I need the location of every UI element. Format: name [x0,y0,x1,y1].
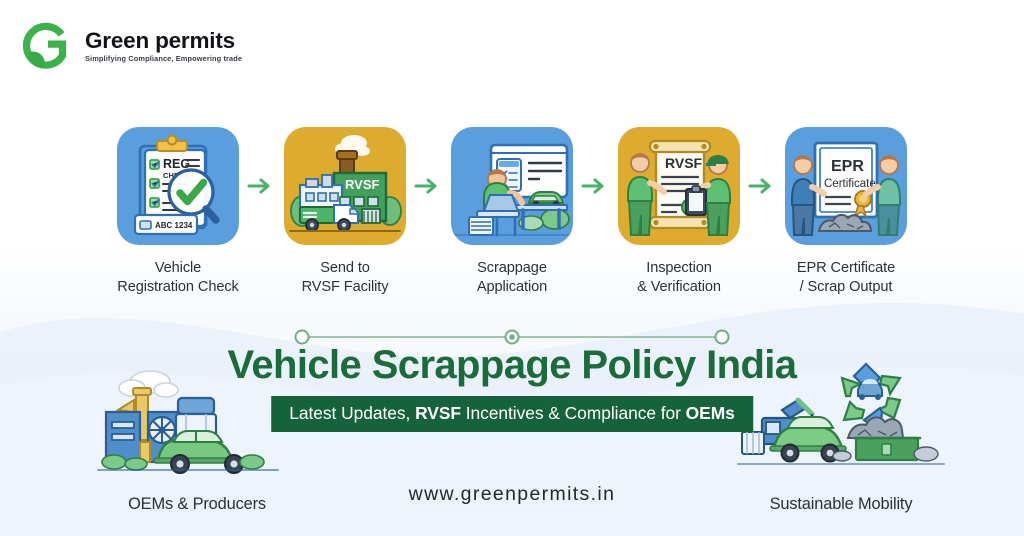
subtitle-part2: Incentives & Compliance for [461,403,686,423]
subtitle-bold-rvsf: RVSF [415,403,461,423]
arrow-right-icon-2 [406,127,451,245]
step-label-4-line1: Inspection [637,259,721,278]
svg-text:Certificate: Certificate [824,178,876,190]
step-label-3-line1: Scrappage [477,259,547,278]
step-label-4-line2: & Verification [637,278,721,297]
step-label-1-line2: Registration Check [117,278,239,297]
step-card-5: EPR Certificate [785,127,907,245]
step-label-3-line2: Application [477,278,547,297]
process-step-vehicle-registration-check[interactable]: REG CHECK ABC 1234 Vehicle [117,127,239,297]
brand-name: Green permits [85,30,242,53]
step-label-1: Vehicle Registration Check [117,259,239,297]
step-label-3: Scrappage Application [477,259,547,297]
page-title: Vehicle Scrappage Policy India [0,343,1024,388]
step-card-2: RVSF [284,127,406,245]
website-url[interactable]: www.greenpermits.in [0,483,1024,506]
step-card-3 [451,127,573,245]
step-label-5: EPR Certificate / Scrap Output [797,259,895,297]
rvsf-factory-truck-icon: RVSF [284,127,406,245]
step-card-1: REG CHECK ABC 1234 [117,127,239,245]
brand-tagline: Simplifying Compliance, Empowering trade [85,55,242,62]
step-label-5-line1: EPR Certificate [797,259,895,278]
epr-certificate-scrap-icon: EPR Certificate [785,127,907,245]
process-step-inspection-verification[interactable]: RVSF [618,127,740,297]
svg-text:RVSF: RVSF [345,177,379,192]
arrow-right-icon-4 [740,127,785,245]
step-label-2: Send to RVSF Facility [302,259,389,297]
process-step-epr-certificate-scrap-output[interactable]: EPR Certificate [785,127,907,297]
step-label-2-line1: Send to [302,259,389,278]
process-steps-row: REG CHECK ABC 1234 Vehicle [0,127,1024,297]
step-label-5-line2: / Scrap Output [797,278,895,297]
step-label-2-line2: RVSF Facility [302,278,389,297]
subtitle-banner: Latest Updates, RVSF Incentives & Compli… [271,396,753,432]
process-step-scrappage-application[interactable]: Scrappage Application [451,127,573,297]
svg-text:ABC 1234: ABC 1234 [155,221,193,230]
green-leaf-g-logo-icon [18,17,76,75]
arrow-right-icon-1 [239,127,284,245]
arrow-right-icon-3 [573,127,618,245]
process-step-send-to-rvsf-facility[interactable]: RVSF [284,127,406,297]
subtitle-part1: Latest Updates, [289,403,415,423]
brand-logo[interactable]: Green permits Simplifying Compliance, Em… [18,17,242,75]
step-card-4: RVSF [618,127,740,245]
step-label-1-line1: Vehicle [117,259,239,278]
subtitle-bold-oems: OEMs [686,403,735,423]
svg-text:EPR: EPR [831,158,864,175]
inspectors-document-icon: RVSF [618,127,740,245]
infographic-canvas: Green permits Simplifying Compliance, Em… [0,0,1024,536]
step-label-4: Inspection & Verification [637,259,721,297]
online-application-laptop-icon [451,127,573,245]
clipboard-magnifier-icon: REG CHECK ABC 1234 [117,127,239,245]
svg-text:RVSF: RVSF [665,155,703,171]
